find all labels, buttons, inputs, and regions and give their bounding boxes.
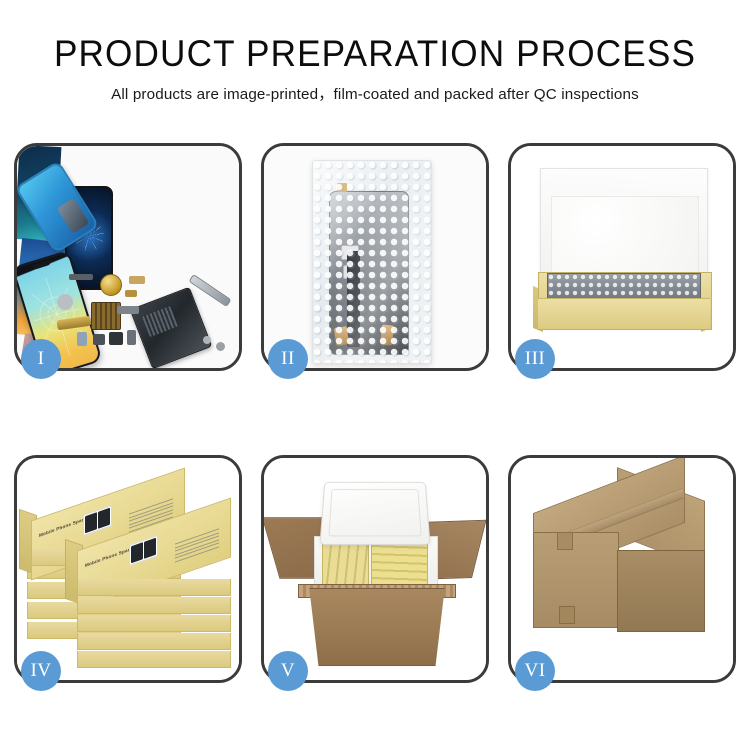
bubble-wrap-bag <box>312 160 432 364</box>
small-part <box>77 332 87 346</box>
box-front-panel <box>538 298 710 329</box>
process-step-1[interactable]: I <box>14 143 242 371</box>
page-header: PRODUCT PREPARATION PROCESS All products… <box>0 0 750 104</box>
step-badge-5: V <box>268 651 308 691</box>
carton-face-side <box>617 550 705 632</box>
step-badge-3: III <box>515 339 555 379</box>
small-part <box>127 330 136 345</box>
page-subtitle: All products are image-printed，film-coat… <box>0 85 750 104</box>
carton-front <box>300 588 454 666</box>
process-step-5[interactable]: V <box>261 455 489 683</box>
step-3-image <box>511 146 733 368</box>
plastic-sheen <box>313 161 431 363</box>
stacked-box-front <box>77 633 231 650</box>
process-step-grid: I II <box>14 143 736 683</box>
page-title: PRODUCT PREPARATION PROCESS <box>19 33 732 75</box>
process-step-2[interactable]: II <box>261 143 489 371</box>
small-part <box>93 334 105 345</box>
foam-box-lid <box>319 482 430 545</box>
stacked-box-front <box>77 615 231 632</box>
step-badge-2: II <box>268 339 308 379</box>
step-1-image <box>17 146 239 368</box>
gold-component <box>100 274 122 296</box>
carton-face-front <box>533 532 619 628</box>
label-phone-thumb <box>131 542 143 563</box>
small-part <box>109 332 123 345</box>
small-part <box>57 294 73 310</box>
label-phone-thumb <box>144 538 156 559</box>
step-badge-1: I <box>21 339 61 379</box>
stacked-box-front <box>77 579 231 596</box>
yellow-boxes-inside <box>322 544 428 584</box>
process-step-3[interactable]: III <box>508 143 736 371</box>
small-part <box>129 276 145 284</box>
foam-sheet <box>551 196 699 276</box>
step-badge-4: IV <box>21 651 61 691</box>
box-stack: Mobile Phone Spare Parts Mobile Phone Sp… <box>25 476 237 670</box>
small-part <box>117 306 139 314</box>
stacked-box-front <box>77 597 231 614</box>
small-part <box>125 290 137 297</box>
process-step-6[interactable]: VI <box>508 455 736 683</box>
carton-tab <box>557 532 573 550</box>
process-step-4[interactable]: Mobile Phone Spare Parts Mobile Phone Sp… <box>14 455 242 683</box>
carton-tab <box>559 606 575 624</box>
step-5-image <box>264 458 486 680</box>
step-6-image <box>511 458 733 680</box>
label-phone-thumb <box>98 508 110 529</box>
step-2-image <box>264 146 486 368</box>
yellow-box-group <box>322 544 369 584</box>
stacked-box-front <box>77 651 231 668</box>
screw <box>216 342 225 351</box>
step-badge-6: VI <box>515 651 555 691</box>
screw <box>203 336 211 344</box>
label-phone-thumb <box>85 512 97 533</box>
yellow-box-group <box>371 544 428 584</box>
step-4-image: Mobile Phone Spare Parts Mobile Phone Sp… <box>17 458 239 680</box>
small-part <box>69 274 93 280</box>
